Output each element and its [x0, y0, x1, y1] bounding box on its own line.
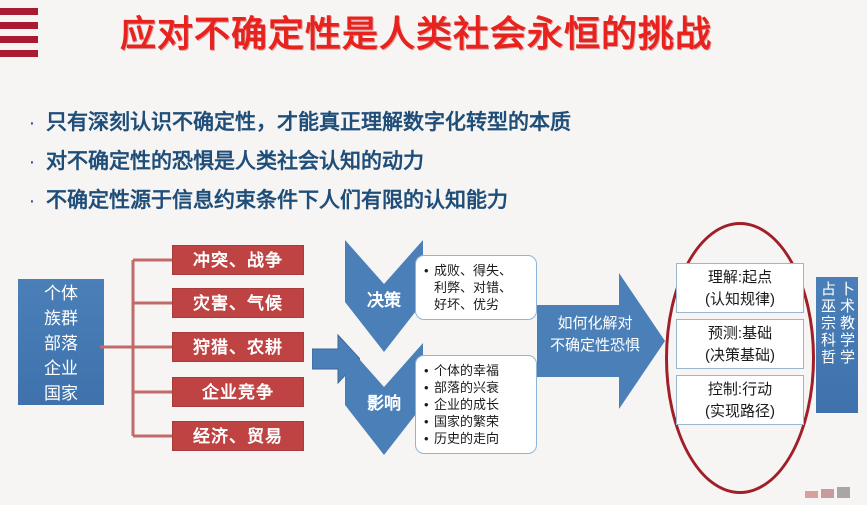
- logo-bar-2: [821, 489, 834, 498]
- criteria-item: 成败、得失、: [434, 262, 532, 279]
- decision-criteria-box: 成败、得失、 利弊、对错、 好坏、优劣: [415, 255, 537, 320]
- result-box-control: 控制:行动 (实现路径): [676, 375, 804, 425]
- outcome-item: 部落的兴衰: [434, 379, 532, 396]
- corner-logo-mark: [805, 484, 860, 498]
- result-box-predict: 预测:基础 (决策基础): [676, 319, 804, 369]
- source-line: 企业: [18, 356, 104, 381]
- criteria-item: 利弊、对错、: [434, 279, 532, 296]
- list-item: · 不确定性源于信息约束条件下人们有限的认知能力: [18, 186, 798, 216]
- source-line: 族群: [18, 306, 104, 331]
- list-item: · 对不确定性的恐惧是人类社会认知的动力: [18, 147, 798, 177]
- bar-2: [0, 22, 38, 29]
- result-line-2: (决策基础): [677, 345, 803, 367]
- result-line-1: 控制:行动: [677, 379, 803, 401]
- chevron-label: 决策: [345, 286, 423, 311]
- source-line: 个体: [18, 281, 104, 306]
- bullet-text: 只有深刻认识不确定性，才能真正理解数字化转型的本质: [46, 108, 571, 138]
- criteria-item: 好坏、优劣: [434, 296, 532, 313]
- risk-box-competition: 企业竞争: [172, 377, 304, 407]
- risk-box-conflict: 冲突、战争: [172, 245, 304, 275]
- source-line: 部落: [18, 331, 104, 356]
- bullet-marker: ·: [18, 108, 46, 138]
- outcome-item: 历史的走向: [434, 430, 532, 447]
- arrow-line-1: 如何化解对: [557, 315, 632, 332]
- impact-outcomes-box: 个体的幸福 部落的兴衰 企业的成长 国家的繁荣 历史的走向: [415, 355, 537, 454]
- bullet-marker: ·: [18, 147, 46, 177]
- chevron-impact: 影响: [345, 343, 423, 455]
- bullet-marker: ·: [18, 186, 46, 216]
- risk-box-disaster: 灾害、气候: [172, 288, 304, 318]
- logo-bar-3: [837, 487, 850, 498]
- bullet-text: 不确定性源于信息约束条件下人们有限的认知能力: [46, 186, 508, 216]
- outcome-item: 个体的幸福: [434, 362, 532, 379]
- bullet-list: · 只有深刻认识不确定性，才能真正理解数字化转型的本质 · 对不确定性的恐惧是人…: [18, 108, 798, 225]
- source-entities-box: 个体 族群 部落 企业 国家: [18, 279, 104, 405]
- chevron-decision: 决策: [345, 240, 423, 352]
- four-bars-icon: [0, 8, 38, 58]
- knowledge-systems-box: 卜术教学学 占巫宗科哲: [816, 277, 858, 413]
- diagram-area: 个体 族群 部落 企业 国家 冲突、战争 灾害、气候 狩猎、农耕 企业竞争 经济…: [0, 215, 867, 505]
- risk-box-hunting: 狩猎、农耕: [172, 332, 304, 362]
- resolution-arrow-label: 如何化解对 不确定性恐惧: [541, 313, 649, 357]
- result-line-2: (认知规律): [677, 289, 803, 311]
- resolution-arrow: 如何化解对 不确定性恐惧: [537, 267, 665, 415]
- result-line-1: 理解:起点: [677, 267, 803, 289]
- source-line: 国家: [18, 381, 104, 406]
- result-line-2: (实现路径): [677, 401, 803, 423]
- risk-box-economy: 经济、贸易: [172, 421, 304, 451]
- list-item: · 只有深刻认识不确定性，才能真正理解数字化转型的本质: [18, 108, 798, 138]
- vertical-col-right: 卜术教学学: [837, 281, 856, 409]
- bar-4: [0, 50, 38, 57]
- vertical-col-left: 占巫宗科哲: [818, 281, 837, 409]
- arrow-line-2: 不确定性恐惧: [550, 337, 640, 354]
- tree-connector-lines: [100, 240, 172, 455]
- outcome-item: 国家的繁荣: [434, 413, 532, 430]
- outcome-item: 企业的成长: [434, 396, 532, 413]
- logo-bar-1: [805, 491, 818, 498]
- result-line-1: 预测:基础: [677, 323, 803, 345]
- chevron-label: 影响: [345, 389, 423, 414]
- page-title: 应对不确定性是人类社会永恒的挑战: [120, 6, 820, 62]
- bar-1: [0, 8, 38, 15]
- bullet-text: 对不确定性的恐惧是人类社会认知的动力: [46, 147, 424, 177]
- result-box-understand: 理解:起点 (认知规律): [676, 263, 804, 313]
- bar-3: [0, 36, 38, 43]
- slide-canvas: 应对不确定性是人类社会永恒的挑战 · 只有深刻认识不确定性，才能真正理解数字化转…: [0, 0, 867, 505]
